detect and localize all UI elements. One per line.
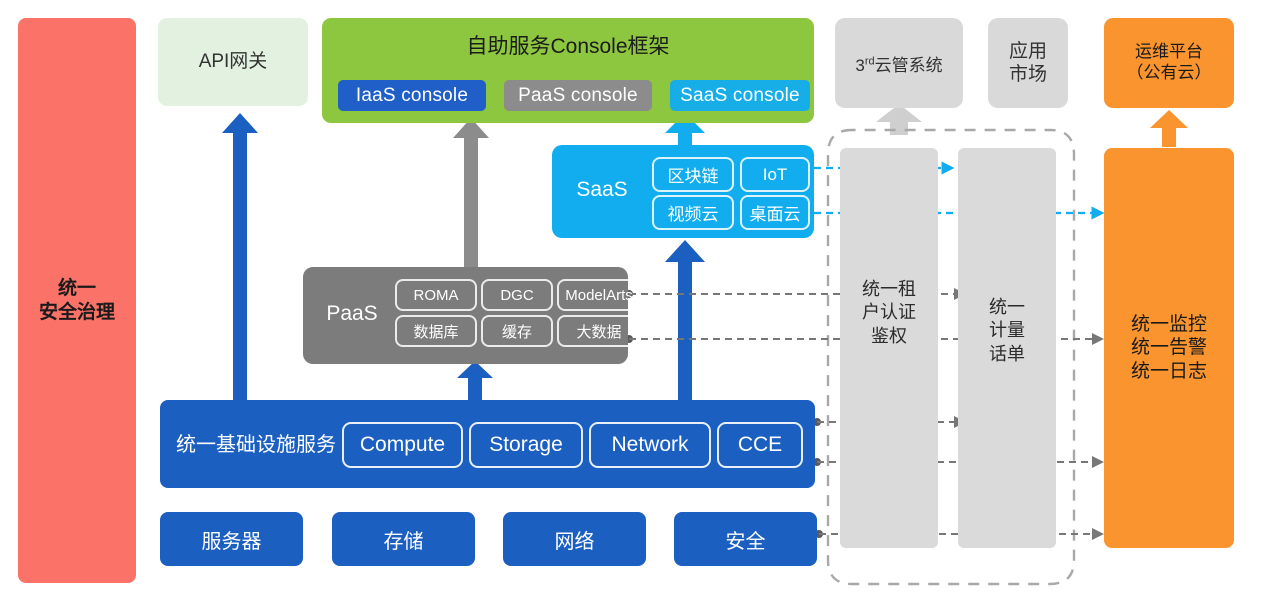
shared-column-metering-billing-label: 统一 计量 话单 [958,296,1056,366]
ops-platform-header-box[interactable]: 运维平台 （公有云） [1104,18,1234,108]
arrow-infra-to-saas [665,240,705,400]
third-party-cloud-management-box[interactable]: 3rd云管系统 [835,18,963,108]
governance-label: 统一 安全治理 [39,277,115,323]
arrow-opspanel-to-opsheader [1150,110,1188,147]
saas-service-video-cloud[interactable]: 视频云 [652,195,734,230]
arrow-shared-to-thirdparty [876,104,922,135]
saas-service-blockchain[interactable]: 区块链 [652,157,734,192]
infra-service-compute[interactable]: Compute [342,422,463,468]
paas-console-chip[interactable]: PaaS console [504,80,652,111]
iaas-console-chip[interactable]: IaaS console [338,80,486,111]
unified-security-governance-panel[interactable]: 统一 安全治理 [18,18,136,583]
paas-title: PaaS [311,302,393,326]
paas-service-roma[interactable]: ROMA [395,279,477,311]
saas-service-desktop-cloud[interactable]: 桌面云 [740,195,810,230]
infra-service-network[interactable]: Network [589,422,711,468]
paas-service-bigdata[interactable]: 大数据 [557,315,641,347]
console-frame-title: 自助服务Console框架 [322,30,814,60]
hardware-item-security[interactable]: 安全 [674,512,817,566]
self-service-console-frame[interactable]: 自助服务Console框架 IaaS console PaaS console … [322,18,814,123]
architecture-diagram: 统一 安全治理 API网关 自助服务Console框架 IaaS console… [0,0,1265,605]
arrow-infra-to-apigateway [222,113,258,400]
unified-infrastructure-service-bar[interactable]: 统一基础设施服务 Compute Storage Network CCE [160,400,815,488]
shared-column-tenant-auth-label: 统一租 户认证 鉴权 [840,278,938,348]
paas-service-database[interactable]: 数据库 [395,315,477,347]
ops-platform-header-label: 运维平台 （公有云） [1127,42,1212,83]
paas-service-dgc[interactable]: DGC [481,279,553,311]
paas-layer-box[interactable]: PaaS ROMA DGC ModelArts 数据库 缓存 大数据 [303,267,628,364]
paas-service-modelarts[interactable]: ModelArts [557,279,641,311]
arrow-infra-to-paas [457,361,493,400]
infrastructure-title: 统一基础设施服务 [176,428,336,457]
app-market-label: 应用 市场 [1009,40,1047,86]
ops-platform-panel[interactable]: 统一监控 统一告警 统一日志 [1104,148,1234,548]
saas-service-iot[interactable]: IoT [740,157,810,192]
infra-service-storage[interactable]: Storage [469,422,583,468]
shared-column-metering-billing[interactable]: 统一 计量 话单 [958,148,1056,548]
third-party-label: 3rd云管系统 [855,51,942,76]
api-gateway-box[interactable]: API网关 [158,18,308,106]
paas-service-cache[interactable]: 缓存 [481,315,553,347]
app-market-box[interactable]: 应用 市场 [988,18,1068,108]
hardware-item-network[interactable]: 网络 [503,512,646,566]
ops-platform-panel-label: 统一监控 统一告警 统一日志 [1131,313,1207,383]
shared-column-tenant-auth[interactable]: 统一租 户认证 鉴权 [840,148,938,548]
saas-console-chip[interactable]: SaaS console [670,80,810,111]
hardware-item-storage[interactable]: 存储 [332,512,475,566]
infra-service-cce[interactable]: CCE [717,422,803,468]
saas-title: SaaS [562,178,642,202]
hardware-item-server[interactable]: 服务器 [160,512,303,566]
arrow-paas-to-console [453,118,489,267]
saas-layer-box[interactable]: SaaS 区块链 IoT 视频云 桌面云 [552,145,814,238]
api-gateway-label: API网关 [199,50,268,73]
